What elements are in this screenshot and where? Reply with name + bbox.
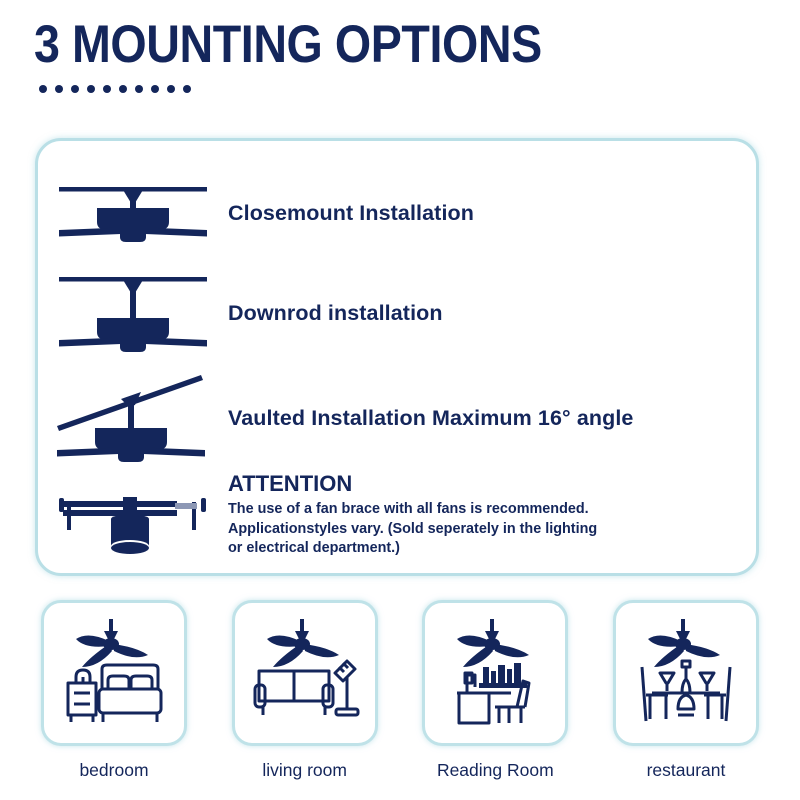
room-card-reading-room[interactable] <box>422 600 568 746</box>
room-label-restaurant: restaurant <box>647 760 726 781</box>
reading-room-icon <box>433 611 557 735</box>
dot <box>103 85 111 93</box>
room-card-living-room[interactable] <box>232 600 378 746</box>
room-type-list: bedroom <box>34 600 766 781</box>
mounting-options-card: Closemount Installation Downrod installa… <box>35 138 759 576</box>
dot <box>167 85 175 93</box>
dot <box>135 85 143 93</box>
dot <box>39 85 47 93</box>
page-title: 3 MOUNTING OPTIONS <box>34 16 685 74</box>
attention-line: or electrical department.) <box>228 539 597 559</box>
dot <box>183 85 191 93</box>
attention-heading: ATTENTION <box>228 471 597 497</box>
room-item-living-room[interactable]: living room <box>225 600 385 781</box>
attention-line: The use of a fan brace with all fans is … <box>228 500 597 520</box>
room-item-restaurant[interactable]: restaurant <box>606 600 766 781</box>
mount-label-closemount: Closemount Installation <box>228 201 474 226</box>
attention-text-block: ATTENTION The use of a fan brace with al… <box>228 471 597 559</box>
mount-row-closemount: Closemount Installation <box>38 165 756 261</box>
fan-brace-icon <box>38 471 228 567</box>
header: 3 MOUNTING OPTIONS <box>34 16 774 93</box>
restaurant-icon <box>624 611 748 735</box>
ceiling-fan-vaulted-icon <box>38 370 228 466</box>
room-label-living-room: living room <box>262 760 347 781</box>
mount-label-vaulted: Vaulted Installation Maximum 16° angle <box>228 406 633 431</box>
room-card-restaurant[interactable] <box>613 600 759 746</box>
room-item-reading-room[interactable]: Reading Room <box>415 600 575 781</box>
mount-row-vaulted: Vaulted Installation Maximum 16° angle <box>38 363 756 473</box>
dot <box>151 85 159 93</box>
room-label-reading-room: Reading Room <box>437 760 554 781</box>
dot <box>55 85 63 93</box>
room-item-bedroom[interactable]: bedroom <box>34 600 194 781</box>
mount-row-downrod: Downrod installation <box>38 261 756 365</box>
dot <box>87 85 95 93</box>
attention-line: Applicationstyles vary. (Sold seperately… <box>228 520 597 540</box>
dot <box>119 85 127 93</box>
mount-label-downrod: Downrod installation <box>228 301 443 326</box>
living-room-icon <box>243 611 367 735</box>
attention-row: ATTENTION The use of a fan brace with al… <box>38 471 756 576</box>
room-label-bedroom: bedroom <box>79 760 148 781</box>
ceiling-fan-closemount-icon <box>38 182 228 244</box>
ceiling-fan-downrod-icon <box>38 272 228 354</box>
decorative-dot-row <box>39 85 774 93</box>
dot <box>71 85 79 93</box>
room-card-bedroom[interactable] <box>41 600 187 746</box>
bedroom-icon <box>52 611 176 735</box>
